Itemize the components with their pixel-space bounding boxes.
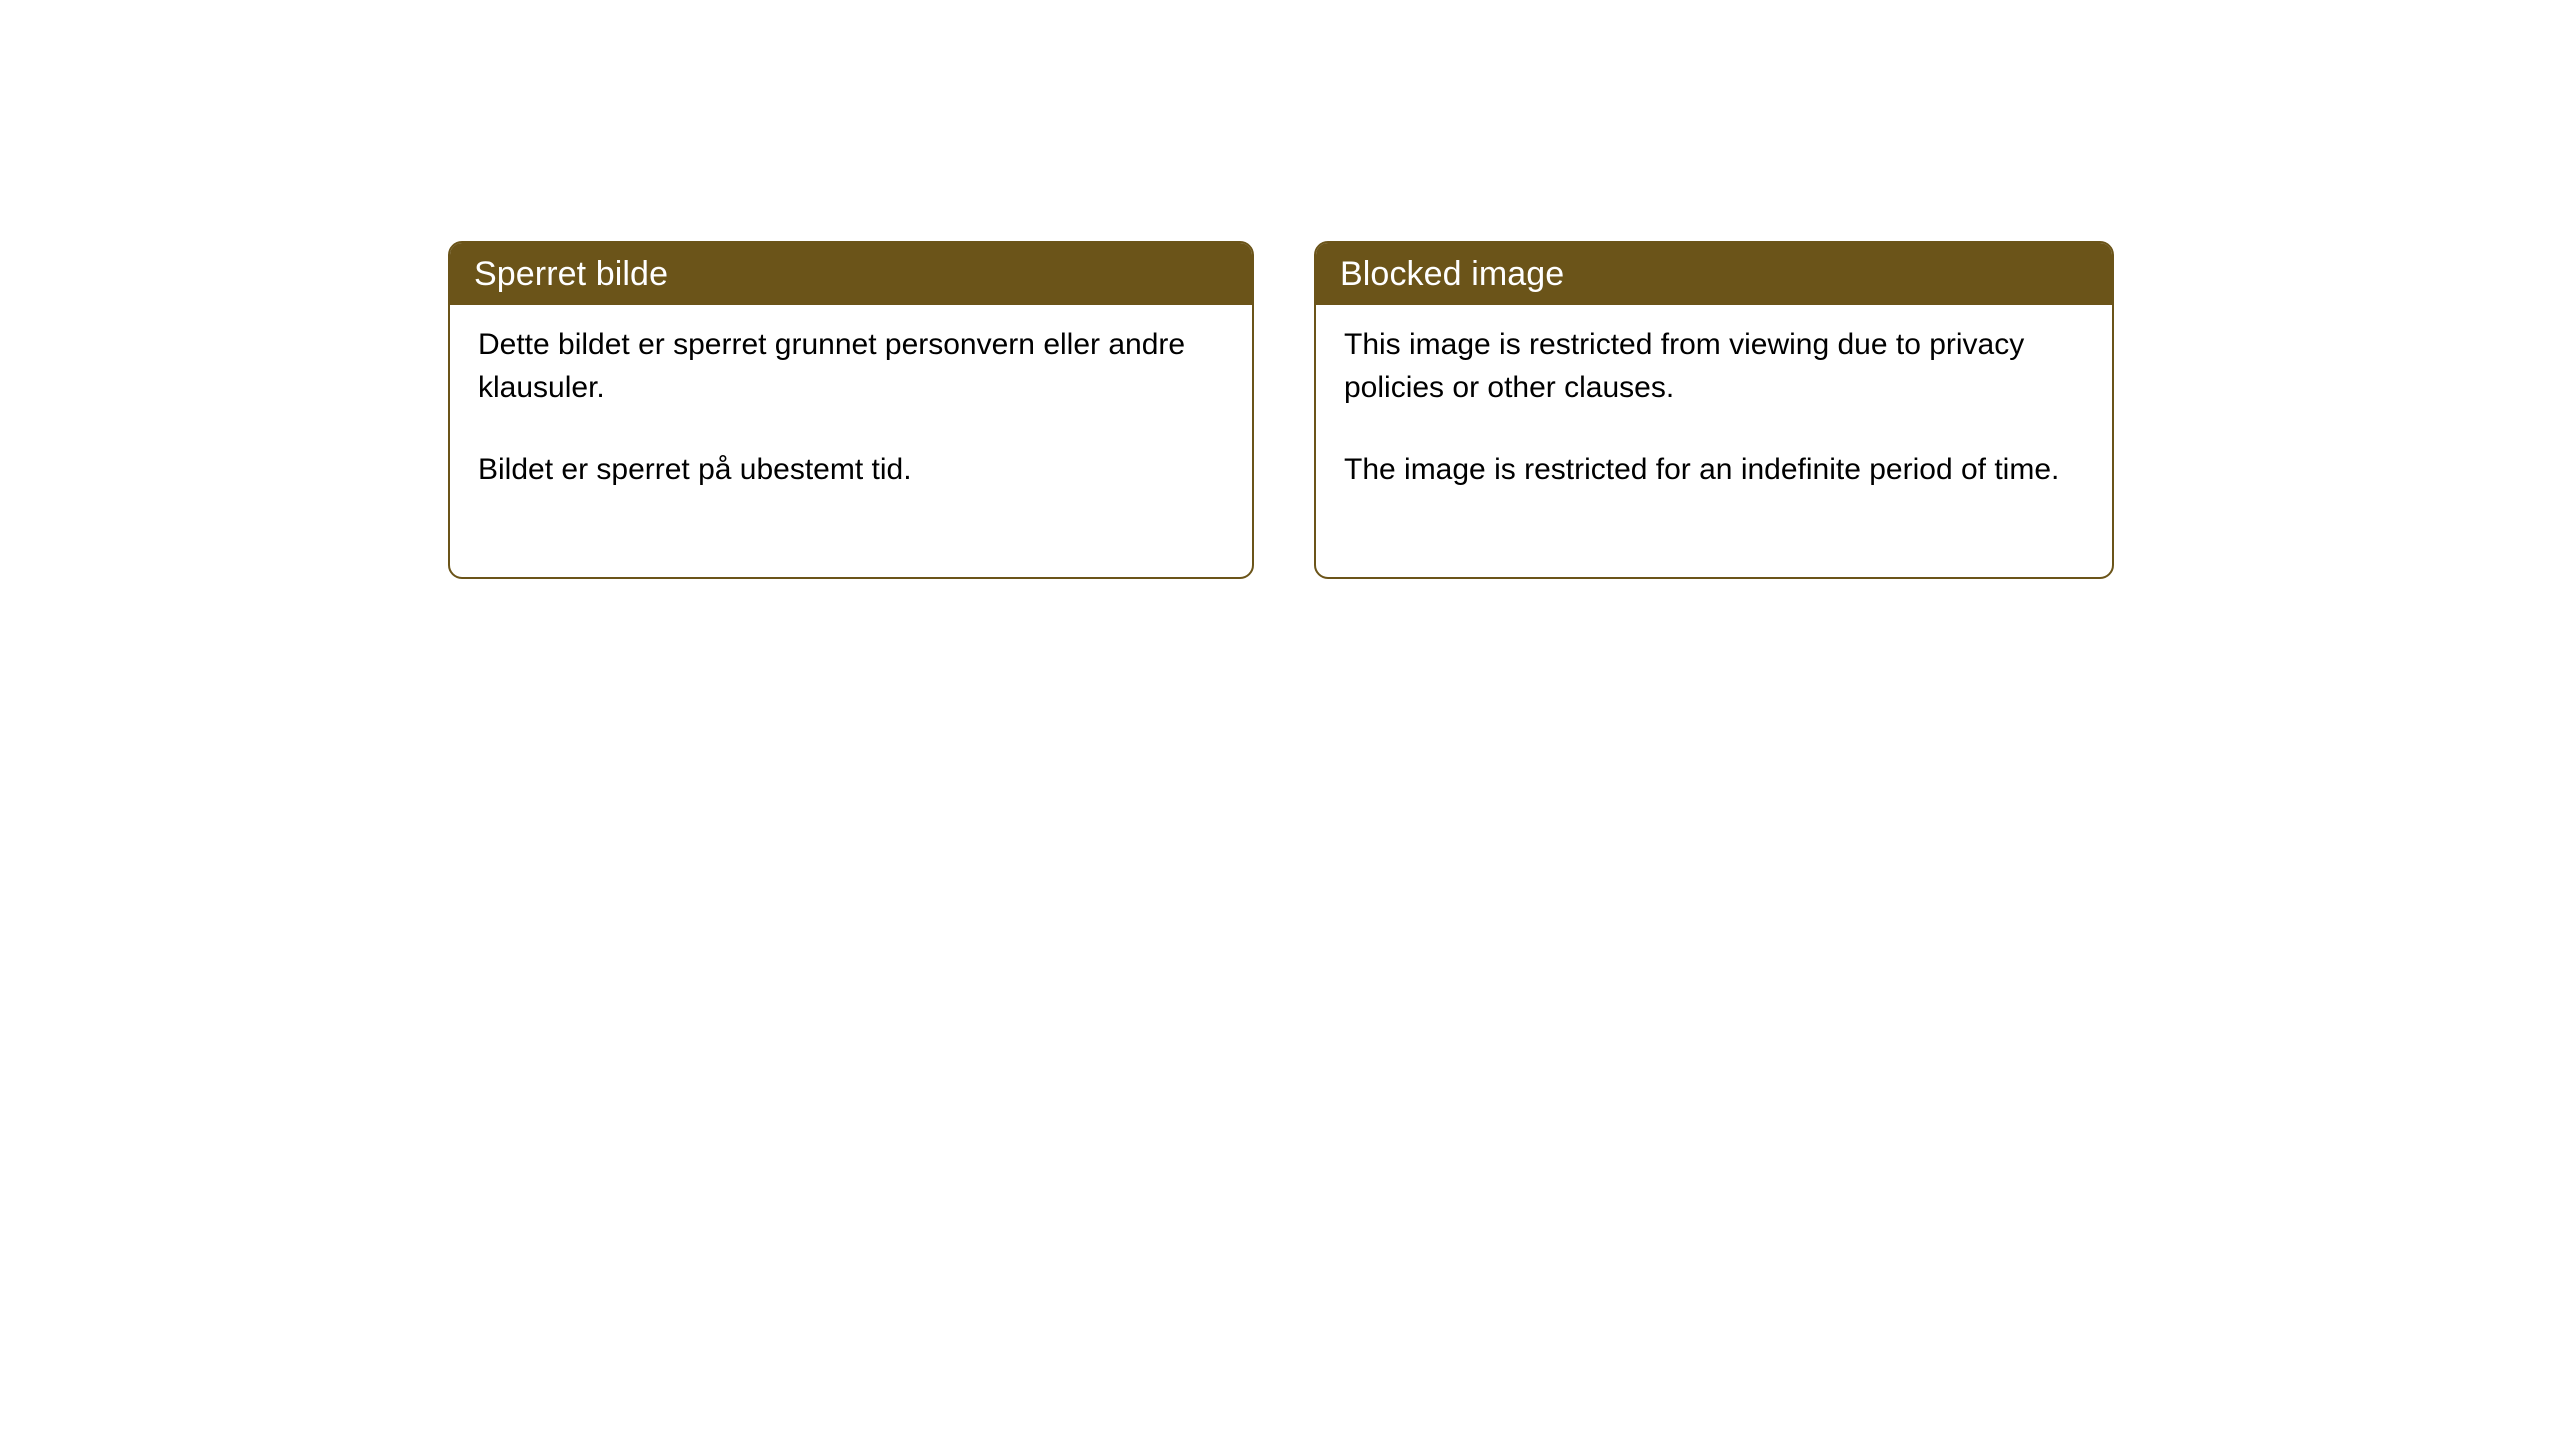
card-title-norwegian: Sperret bilde [474, 257, 668, 291]
card-paragraph-reason-norwegian: Dette bildet er sperret grunnet personve… [478, 323, 1226, 409]
card-header-norwegian: Sperret bilde [450, 243, 1252, 305]
blocked-image-notice-card-norwegian: Sperret bilde Dette bildet er sperret gr… [448, 241, 1254, 579]
card-paragraph-reason-english: This image is restricted from viewing du… [1344, 323, 2086, 409]
blocked-image-notice-card-english: Blocked image This image is restricted f… [1314, 241, 2114, 579]
card-body-english: This image is restricted from viewing du… [1316, 305, 2112, 511]
card-paragraph-duration-english: The image is restricted for an indefinit… [1344, 448, 2086, 491]
card-paragraph-duration-norwegian: Bildet er sperret på ubestemt tid. [478, 448, 1226, 491]
card-header-english: Blocked image [1316, 243, 2112, 305]
card-body-norwegian: Dette bildet er sperret grunnet personve… [450, 305, 1252, 511]
page-canvas: Sperret bilde Dette bildet er sperret gr… [0, 0, 2560, 1440]
card-title-english: Blocked image [1340, 257, 1564, 291]
